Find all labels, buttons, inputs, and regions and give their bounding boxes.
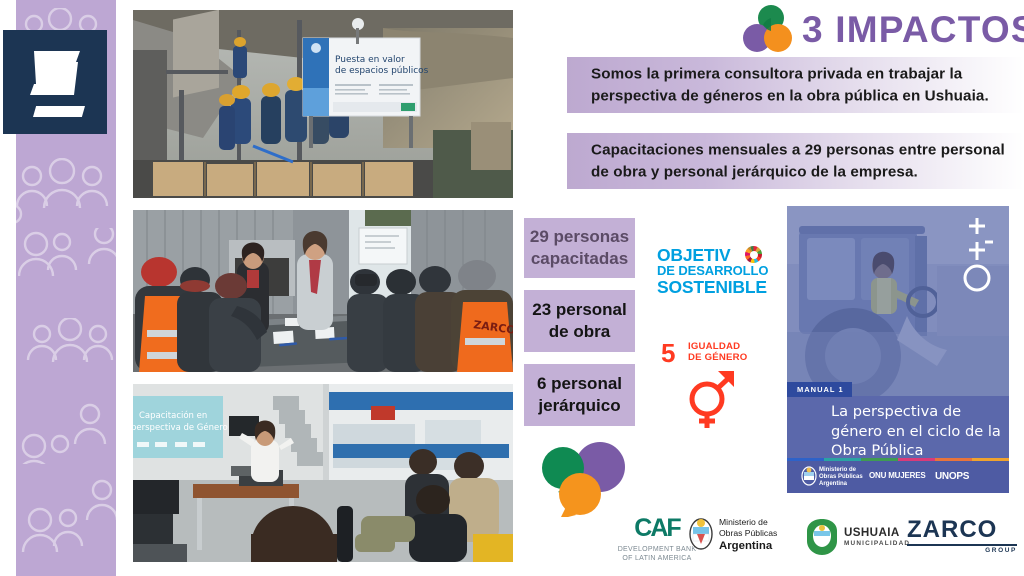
stat-site-staff: 23 personal de obra xyxy=(524,290,635,352)
sdg-goal-5-number: 5 xyxy=(661,340,675,366)
footer-logo-zarco-rule xyxy=(907,544,1017,546)
photo-construction-site: Puesta en valor de espacios públicos xyxy=(133,10,513,198)
stat-site-staff-text: 23 personal de obra xyxy=(524,299,635,343)
sdg-goal-5-label: IGUALDAD DE GÉNERO xyxy=(688,341,747,364)
manual-logo-ministerio-line3: Argentina xyxy=(819,481,847,489)
people-icons-pattern xyxy=(16,478,116,558)
sdg-goal-5: 5 IGUALDAD DE GÉNERO xyxy=(661,340,757,432)
z-letter-mark xyxy=(30,49,82,97)
page-title: 3 IMPACTOS xyxy=(802,6,1024,54)
z-underline-bar xyxy=(33,106,85,117)
footer-logo-zarco-sub: GROUP xyxy=(907,547,1017,554)
svg-text:perspectiva de Género: perspectiva de Género xyxy=(133,422,228,433)
footer-logo-ministerio-text: Ministerio de Obras Públicas Argentina xyxy=(719,517,777,554)
manual-badge: MANUAL 1 xyxy=(787,382,852,397)
venus-mars-symbol xyxy=(959,216,995,296)
manual-title: La perspectiva de género en el ciclo de … xyxy=(831,402,1001,461)
ushuaia-shield-emblem xyxy=(805,518,839,556)
footer-logo-ministerio-line2: Obras Públicas xyxy=(719,528,777,539)
argentina-sun-emblem xyxy=(801,466,817,488)
statement-first-consultancy: Somos la primera consultora privada en t… xyxy=(567,57,1024,113)
statement-monthly-trainings-text: Capacitaciones mensuales a 29 personas e… xyxy=(591,139,1024,182)
manual-cover: MANUAL 1 La perspectiva de género en el … xyxy=(787,206,1009,493)
slide-canvas: Puesta en valor de espacios públicos xyxy=(0,0,1024,576)
stat-management-staff: 6 personal jerárquico xyxy=(524,364,635,426)
footer-logo-zarco: ZARCO GROUP xyxy=(907,518,1017,554)
people-icons-pattern xyxy=(22,318,116,382)
sdg-color-wheel xyxy=(745,246,762,263)
footer-logo-ushuaia-text: USHUAIA MUNICIPALIDAD xyxy=(844,527,910,547)
statement-first-consultancy-text: Somos la primera consultora privada en t… xyxy=(591,63,1024,106)
statement-monthly-trainings: Capacitaciones mensuales a 29 personas e… xyxy=(567,133,1024,189)
footer-logo-ministerio-line1: Ministerio de xyxy=(719,517,777,528)
footer-logo-caf-sub-line2: OF LATIN AMERICA xyxy=(597,554,717,563)
sdg-logo-line1-prefix: OBJETIV xyxy=(657,245,730,265)
sdg-goal-5-label-line2: DE GÉNERO xyxy=(688,352,747,363)
stat-trained-people-text: 29 personas capacitadas xyxy=(524,226,635,270)
footer-logo-ushuaia-line1: USHUAIA xyxy=(844,527,910,540)
manual-logo-onu-mujeres: ONU MUJERES xyxy=(869,471,925,481)
three-circles-logo xyxy=(740,4,796,56)
footer-logo-ministerio-obras-publicas: Ministerio de Obras Públicas Argentina xyxy=(688,516,814,554)
svg-text:Capacitación en: Capacitación en xyxy=(139,410,207,421)
footer-logo-ushuaia: USHUAIA MUNICIPALIDAD xyxy=(805,518,923,556)
photo-training-office-image: Capacitación en perspectiva de Género xyxy=(133,384,513,562)
svg-text:Puesta en valor: Puesta en valor xyxy=(335,55,405,65)
manual-logo-unops: UNOPS xyxy=(935,471,969,484)
photo-training-workers-image: ZARCO xyxy=(133,210,513,372)
stat-trained-people: 29 personas capacitadas xyxy=(524,218,635,278)
photo-training-workers: ZARCO xyxy=(133,210,513,372)
svg-text:de espacios públicos: de espacios públicos xyxy=(335,66,429,76)
footer-logo-ushuaia-line2: MUNICIPALIDAD xyxy=(844,540,910,547)
footer-logo-zarco-mark: ZARCO xyxy=(907,518,1017,542)
photo-construction-site-image: Puesta en valor de espacios públicos xyxy=(133,10,513,198)
sdg-goal-5-label-line1: IGUALDAD xyxy=(688,341,747,352)
footer-logo-row: CAF DEVELOPMENT BANK OF LATIN AMERICA Mi… xyxy=(575,508,1024,566)
sdg-logo-line2: DE DESARROLLO xyxy=(657,263,768,278)
stat-management-staff-text: 6 personal jerárquico xyxy=(524,373,635,417)
argentina-sun-emblem xyxy=(688,516,714,554)
zarco-z-logo xyxy=(3,30,107,134)
people-icons-pattern xyxy=(16,400,116,464)
sdg-logo-line3: SOSTENIBLE xyxy=(657,277,767,298)
people-icons-pattern xyxy=(18,228,116,294)
speech-bubbles-graphic xyxy=(534,437,638,517)
photo-training-office: Capacitación en perspectiva de Género xyxy=(133,384,513,562)
people-icons-pattern xyxy=(16,158,116,228)
gender-equality-icon xyxy=(678,368,740,430)
sdg-logo: OBJETIVS DE DESARROLLO SOSTENIBLE xyxy=(657,245,769,297)
footer-logo-ministerio-line3: Argentina xyxy=(719,540,772,552)
